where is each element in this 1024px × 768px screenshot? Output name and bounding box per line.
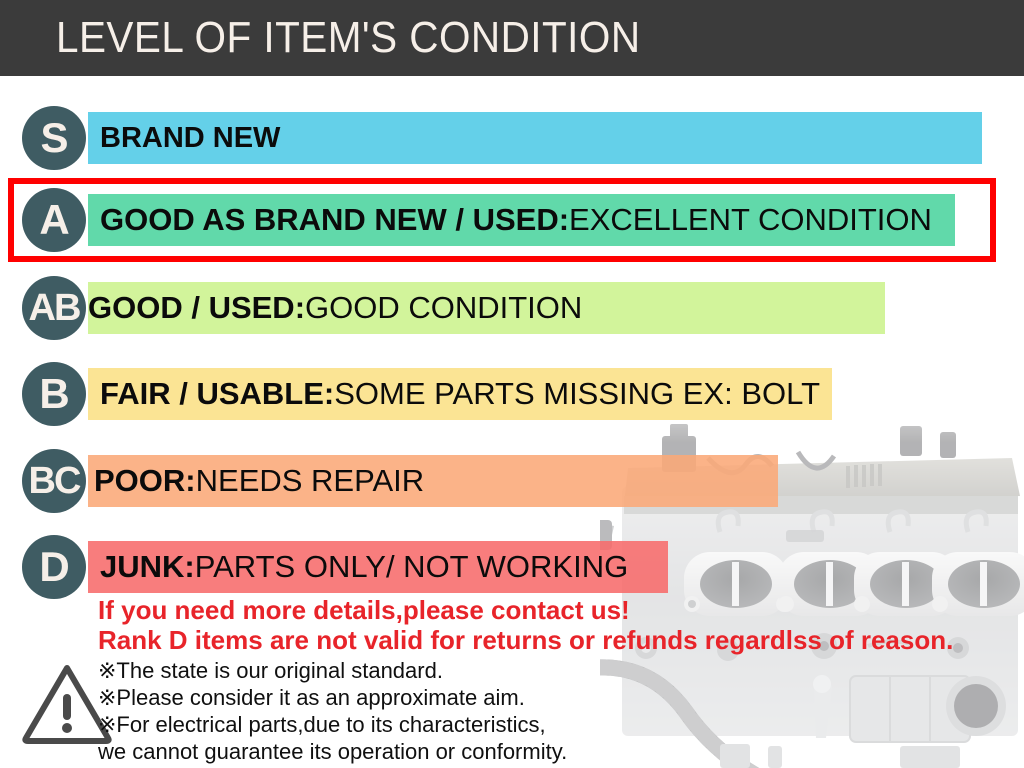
rank-badge-ab: AB <box>22 276 86 340</box>
note-line-4: we cannot guarantee its operation or con… <box>98 739 567 765</box>
note-line-3: ※For electrical parts,due to its charact… <box>98 712 546 738</box>
rank-label-s: BRAND NEW <box>100 112 280 164</box>
rank-badge-bc: BC <box>22 449 86 513</box>
rank-desc-text-ab: GOOD CONDITION <box>305 290 582 326</box>
rank-label-ab: GOOD / USED: GOOD CONDITION <box>88 282 582 334</box>
rank-label-text-ab: GOOD / USED: <box>88 290 305 326</box>
rank-label-text-s: BRAND NEW <box>100 122 280 155</box>
rank-label-text-b: FAIR / USABLE: <box>100 376 334 412</box>
rank-desc-text-a: EXCELLENT CONDITION <box>569 202 932 238</box>
rank-label-text-a: GOOD AS BRAND NEW / USED: <box>100 202 569 238</box>
rank-label-bc: POOR: NEEDS REPAIR <box>94 455 424 507</box>
rank-badge-s: S <box>22 106 86 170</box>
rank-row-ab: AB GOOD / USED: GOOD CONDITION <box>0 270 1024 346</box>
note-line-1: ※The state is our original standard. <box>98 658 443 684</box>
rank-badge-d: D <box>22 535 86 599</box>
rank-label-text-d: JUNK: <box>100 549 195 585</box>
rank-row-a: A GOOD AS BRAND NEW / USED: EXCELLENT CO… <box>0 182 1024 258</box>
note-line-2: ※Please consider it as an approximate ai… <box>98 685 525 711</box>
rank-desc-text-d: PARTS ONLY/ NOT WORKING <box>195 549 629 585</box>
rank-label-b: FAIR / USABLE: SOME PARTS MISSING EX: BO… <box>100 368 820 420</box>
rank-desc-text-bc: NEEDS REPAIR <box>196 463 425 499</box>
alert-line-contact: If you need more details,please contact … <box>98 596 630 624</box>
condition-level-infographic: LEVEL OF ITEM'S CONDITION S BRAND NEW A … <box>0 0 1024 768</box>
rank-badge-b: B <box>22 362 86 426</box>
rank-row-s: S BRAND NEW <box>0 100 1024 176</box>
page-title: LEVEL OF ITEM'S CONDITION <box>56 14 641 62</box>
rank-label-text-bc: POOR: <box>94 463 196 499</box>
rank-badge-a: A <box>22 188 86 252</box>
rank-row-bc: BC POOR: NEEDS REPAIR <box>0 443 1024 519</box>
rank-desc-text-b: SOME PARTS MISSING EX: BOLT <box>334 376 820 412</box>
rank-label-a: GOOD AS BRAND NEW / USED: EXCELLENT COND… <box>100 194 932 246</box>
rank-label-d: JUNK: PARTS ONLY/ NOT WORKING <box>100 541 628 593</box>
alert-line-rank-d-no-returns: Rank D items are not valid for returns o… <box>98 626 953 654</box>
rank-row-d: D JUNK: PARTS ONLY/ NOT WORKING <box>0 529 1024 605</box>
rank-row-b: B FAIR / USABLE: SOME PARTS MISSING EX: … <box>0 356 1024 432</box>
